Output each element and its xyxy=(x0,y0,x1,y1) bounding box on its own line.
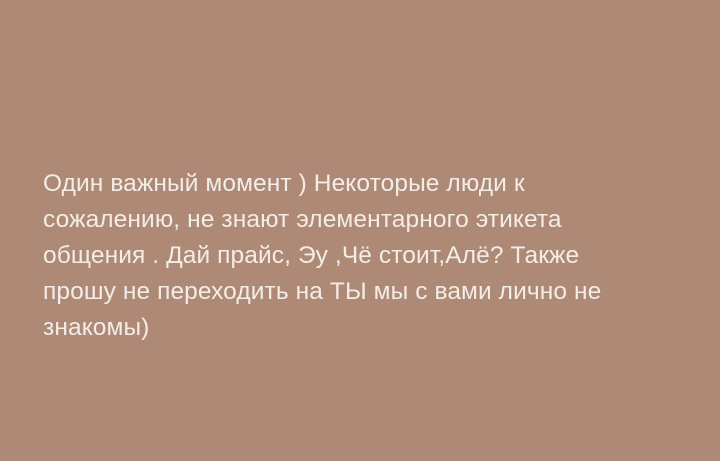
message-text: Один важный момент ) Некоторые люди к со… xyxy=(43,166,643,346)
text-card: Один важный момент ) Некоторые люди к со… xyxy=(0,0,720,461)
